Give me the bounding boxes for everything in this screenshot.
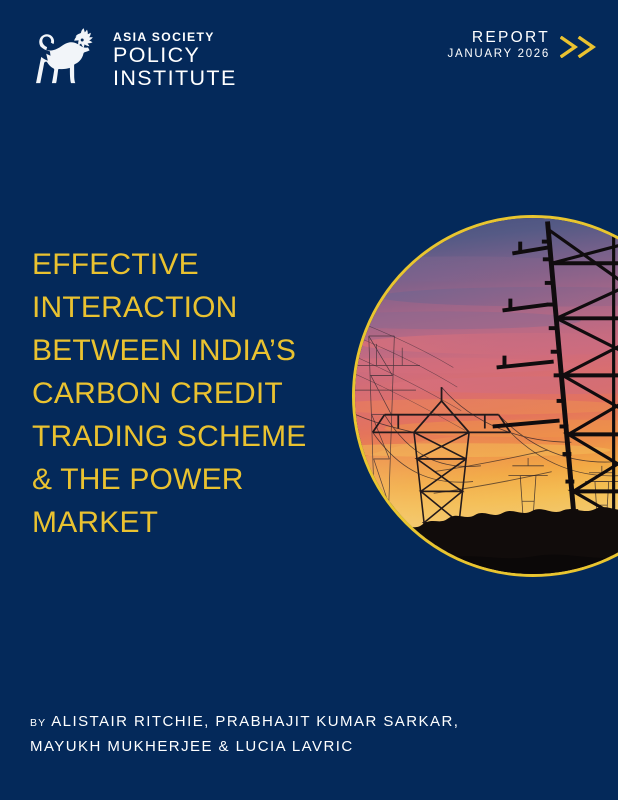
asia-society-policy-institute-logo: ASIA SOCIETY POLICY INSTITUTE bbox=[30, 26, 237, 92]
report-label: REPORT bbox=[448, 29, 550, 46]
report-meta: REPORT JANUARY 2026 bbox=[448, 28, 602, 63]
cover-header: ASIA SOCIETY POLICY INSTITUTE REPORT JAN… bbox=[0, 0, 618, 120]
report-date: JANUARY 2026 bbox=[448, 46, 550, 63]
title-line-2: INTERACTION bbox=[32, 286, 352, 329]
logo-line-asia-society: ASIA SOCIETY bbox=[113, 30, 237, 44]
logo-line-policy: POLICY bbox=[113, 44, 237, 67]
asia-society-lion-logo-icon bbox=[30, 26, 106, 92]
report-cover: ASIA SOCIETY POLICY INSTITUTE REPORT JAN… bbox=[0, 0, 618, 800]
title-line-4: CARBON CREDIT bbox=[32, 372, 352, 415]
logo-line-institute: INSTITUTE bbox=[113, 67, 237, 90]
by-label: BY bbox=[30, 717, 51, 729]
author-line-2: MAYUKH MUKHERJEE & LUCIA LAVRIC bbox=[30, 735, 590, 758]
sunset-pylons-illustration bbox=[355, 218, 618, 574]
logo-wordmark: ASIA SOCIETY POLICY INSTITUTE bbox=[113, 28, 237, 90]
title-line-7: MARKET bbox=[32, 501, 352, 544]
title-line-1: EFFECTIVE bbox=[32, 243, 352, 286]
author-line-1: BYALISTAIR RITCHIE, PRABHAJIT KUMAR SARK… bbox=[30, 710, 590, 735]
transmission-pylons-at-sunset-photo bbox=[352, 215, 618, 577]
cover-title: EFFECTIVE INTERACTION BETWEEN INDIA’S CA… bbox=[32, 243, 352, 544]
title-line-5: TRADING SCHEME bbox=[32, 415, 352, 458]
title-line-3: BETWEEN INDIA’S bbox=[32, 329, 352, 372]
author-names-line-1: ALISTAIR RITCHIE, PRABHAJIT KUMAR SARKAR… bbox=[51, 713, 459, 730]
title-line-6: & THE POWER bbox=[32, 458, 352, 501]
double-chevron-right-icon bbox=[560, 36, 602, 58]
report-meta-text: REPORT JANUARY 2026 bbox=[448, 28, 550, 63]
author-byline: BYALISTAIR RITCHIE, PRABHAJIT KUMAR SARK… bbox=[30, 710, 590, 758]
